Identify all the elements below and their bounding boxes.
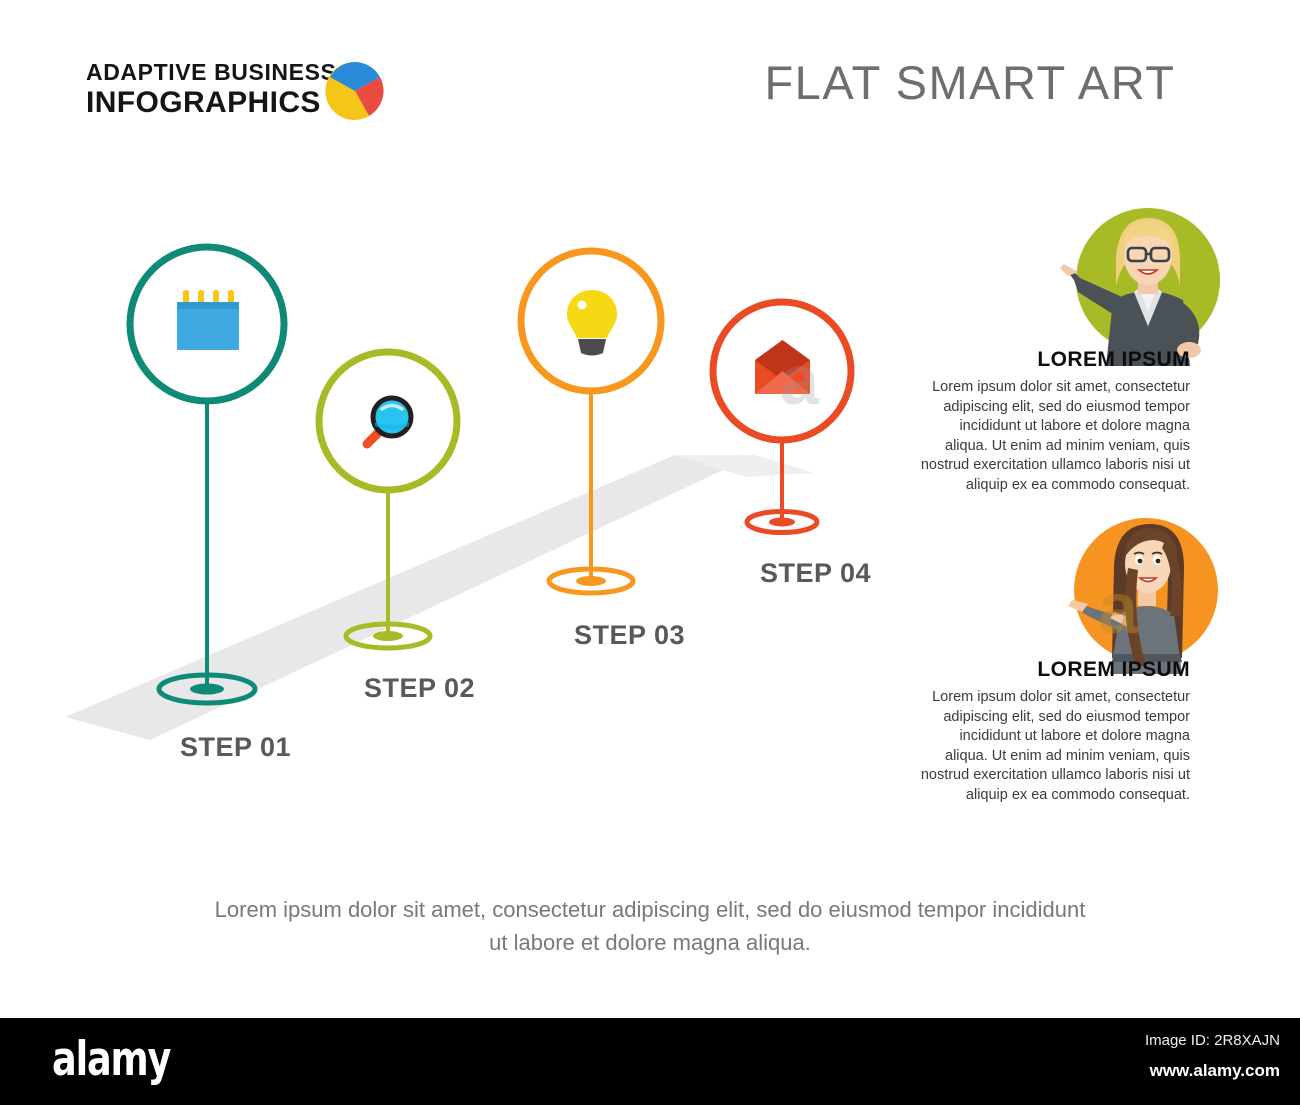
info-heading-1: LOREM IPSUM xyxy=(918,348,1190,372)
brand-logo: ADAPTIVE BUSINESS INFOGRAPHICS xyxy=(86,58,406,138)
step-pin-4[interactable]: STEP 04 xyxy=(700,288,865,618)
businesswoman-blonde-avatar xyxy=(1058,200,1224,366)
page-title: FLAT SMART ART xyxy=(700,55,1240,110)
step-label-2: STEP 02 xyxy=(364,673,475,704)
alamy-image-id: Image ID: 2R8XAJN xyxy=(980,1032,1280,1049)
info-body-1: Lorem ipsum dolor sit amet, consectetur … xyxy=(918,378,1190,495)
alamy-watermark-bar: alamy Image ID: 2R8XAJN www.alamy.com xyxy=(0,1018,1300,1105)
lightbulb-icon xyxy=(562,284,622,362)
calendar-icon xyxy=(170,284,246,362)
step-pin-1[interactable]: STEP 01 xyxy=(112,232,302,712)
footer-caption: Lorem ipsum dolor sit amet, consectetur … xyxy=(210,893,1090,959)
businesswoman-brunette-avatar xyxy=(1058,508,1224,674)
envelope-icon xyxy=(750,338,815,400)
infographic-canvas: ADAPTIVE BUSINESS INFOGRAPHICS FLAT SMAR… xyxy=(0,0,1300,1105)
step-pin-3[interactable]: STEP 03 xyxy=(512,239,678,659)
step-label-1: STEP 01 xyxy=(180,732,291,763)
step-label-3: STEP 03 xyxy=(574,620,685,651)
alamy-url[interactable]: www.alamy.com xyxy=(980,1061,1280,1081)
info-body-2: Lorem ipsum dolor sit amet, consectetur … xyxy=(918,688,1190,805)
pie-chart-logo-icon xyxy=(324,60,386,122)
info-heading-2: LOREM IPSUM xyxy=(918,658,1190,682)
step-pin-2[interactable]: STEP 02 xyxy=(307,340,482,710)
step-label-4: STEP 04 xyxy=(760,558,871,589)
info-block-1: LOREM IPSUM Lorem ipsum dolor sit amet, … xyxy=(918,348,1190,495)
info-block-2: LOREM IPSUM Lorem ipsum dolor sit amet, … xyxy=(918,658,1190,805)
magnifier-icon xyxy=(356,389,422,455)
alamy-logo: alamy xyxy=(52,1032,170,1087)
